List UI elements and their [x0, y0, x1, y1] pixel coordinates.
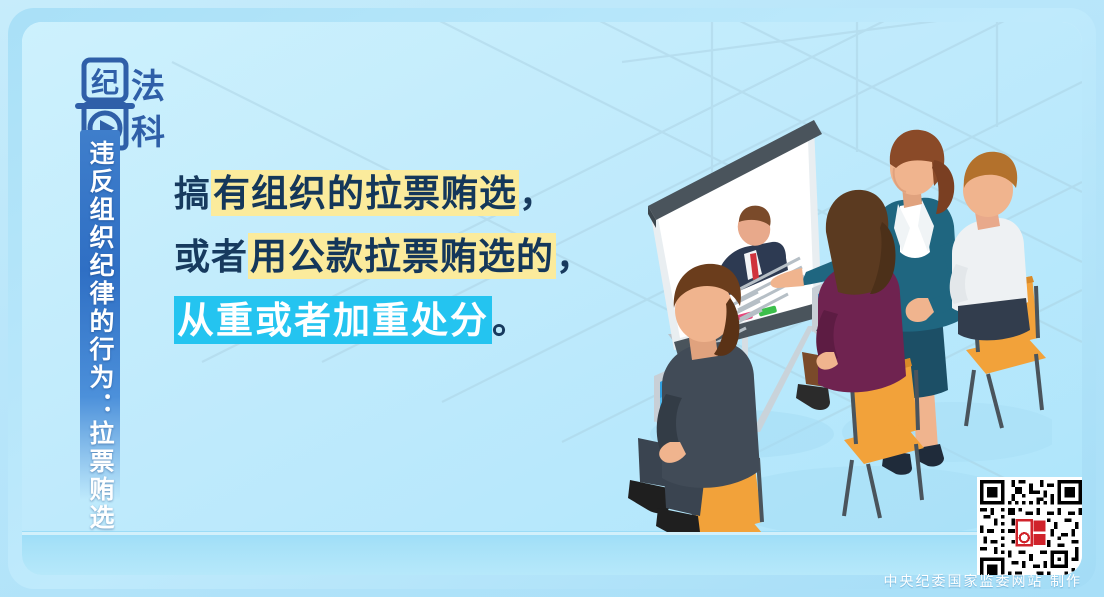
- headline-1-highlight: 有组织的拉票贿选: [211, 170, 519, 216]
- headline-block: 搞有组织的拉票贿选， 或者用公款拉票贿选的， 从重或者加重处分。: [174, 170, 604, 360]
- headline-2-suffix: ，: [556, 236, 592, 278]
- floor-highlight-line: [22, 532, 1082, 535]
- headline-3-suffix: 。: [492, 300, 528, 342]
- ribbon-label: 违反组织纪律的行为：拉票贿选: [82, 140, 118, 532]
- floor-band: [22, 531, 1082, 575]
- audience-man-white-shirt: [950, 152, 1046, 428]
- inner-frame: 纪 法 科 违反组织纪律的行为：拉票贿选 搞有组织的拉票贿选，: [22, 22, 1082, 575]
- headline-line-3: 从重或者加重处分。: [174, 297, 604, 344]
- svg-text:纪: 纪: [91, 66, 119, 99]
- headline-2-prefix: 或者: [174, 236, 248, 278]
- credit-text: 中央纪委国家监委网站 制作: [884, 571, 1082, 591]
- headline-2-highlight: 用公款拉票贿选的: [248, 233, 556, 279]
- svg-text:科: 科: [131, 113, 165, 153]
- headline-3-highlight: 从重或者加重处分: [174, 296, 492, 344]
- training-illustration: [622, 102, 1052, 532]
- headline-line-1: 搞有组织的拉票贿选，: [174, 170, 604, 217]
- poster-canvas: 纪 法 科 违反组织纪律的行为：拉票贿选 搞有组织的拉票贿选，: [0, 0, 1104, 597]
- headline-line-2: 或者用公款拉票贿选的，: [174, 233, 604, 280]
- headline-1-prefix: 搞: [174, 173, 211, 215]
- qr-code[interactable]: [977, 477, 1082, 575]
- svg-text:法: 法: [131, 67, 165, 107]
- headline-1-suffix: ，: [519, 173, 555, 215]
